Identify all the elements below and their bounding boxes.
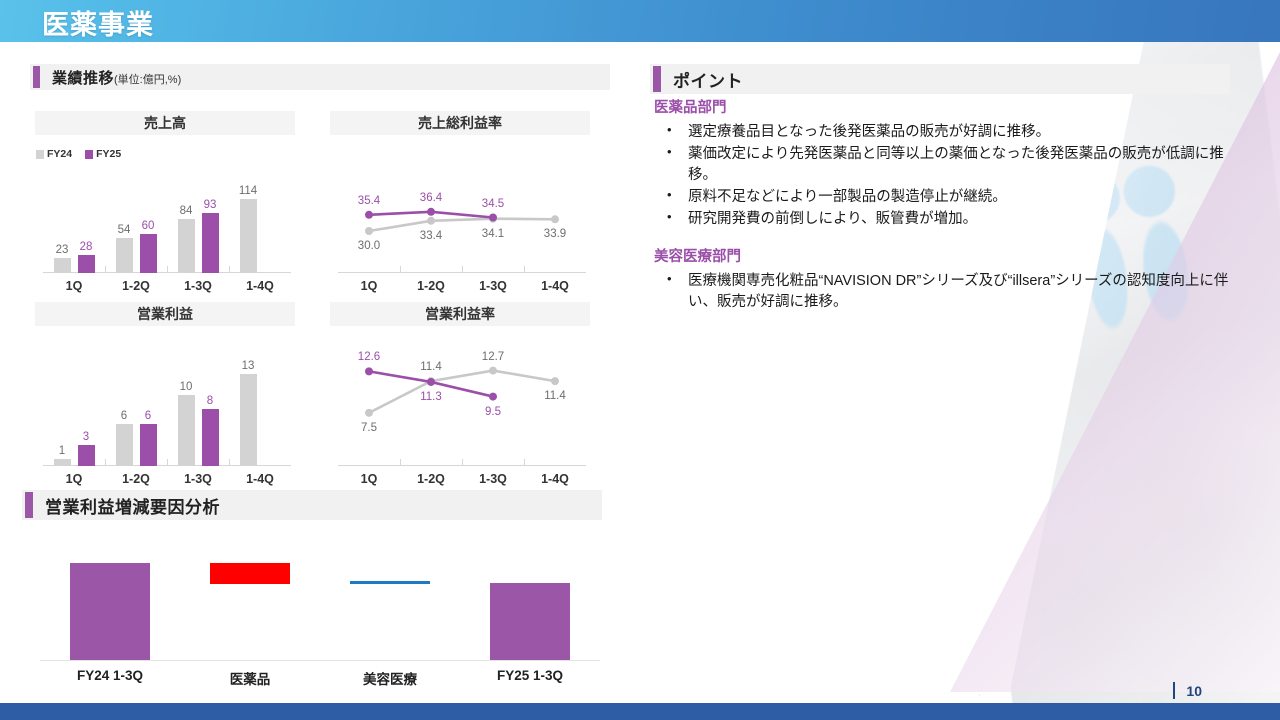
waterfall-category-label: FY25 1-3Q — [460, 668, 600, 683]
legend-swatch-fy25-icon — [85, 150, 93, 159]
legend-swatch-fy24-icon — [36, 150, 44, 159]
waterfall-category-label: FY24 1-3Q — [40, 668, 180, 683]
x-axis-label: 1-4Q — [229, 472, 291, 486]
section-header-performance: 業績推移(単位:億円,%) — [30, 64, 610, 90]
data-point-fy24 — [365, 227, 373, 235]
line-chart-operating-margin: 1Q1-2Q1-3Q1-4Q7.511.412.711.412.611.39.5 — [338, 330, 586, 488]
page-title: 医薬事業 — [42, 3, 154, 42]
data-label: 33.4 — [407, 230, 455, 242]
page-number: 10 — [1186, 683, 1202, 699]
page-separator-icon — [1173, 682, 1175, 699]
bar-value-label: 3 — [69, 431, 104, 443]
line-fy24 — [369, 219, 555, 231]
legend-item-fy24: FY24 — [36, 148, 72, 160]
x-axis-label: 1-3Q — [167, 279, 229, 293]
bar-fy24-1-4Q — [240, 374, 257, 466]
baseline — [40, 660, 600, 661]
axis-tick — [167, 266, 168, 273]
list-item: 医療機関専売化粧品“NAVISION DR”シリーズ及び“illsera”シリー… — [654, 271, 1229, 313]
points-list-2: 医療機関専売化粧品“NAVISION DR”シリーズ及び“illsera”シリー… — [654, 271, 1229, 313]
legend-item-fy25: FY25 — [85, 148, 121, 160]
data-point-fy24 — [551, 215, 559, 223]
bar-fy24-1Q — [54, 459, 71, 466]
axis-tick — [229, 459, 230, 466]
points-group-title-1: 医薬品部門 — [654, 96, 1229, 117]
footer-bar — [0, 703, 1280, 720]
chart-title-operating-margin: 営業利益率 — [330, 302, 590, 326]
chart-panel-operating-margin: 営業利益率 — [330, 302, 590, 326]
x-axis-label: 1-2Q — [105, 472, 167, 486]
section-title-points: ポイント — [673, 67, 743, 92]
bar-value-label: 6 — [131, 410, 166, 422]
data-point-fy24 — [427, 217, 435, 225]
data-point-fy24 — [365, 409, 373, 417]
bar-chart-operating-income: 1Q1-2Q1-3Q1-4Q161013368 — [43, 330, 291, 488]
page-number-block: 10 — [1173, 682, 1202, 699]
data-label: 33.9 — [531, 228, 579, 240]
list-item: 選定療養品目となった後発医薬品の販売が好調に推移。 — [654, 122, 1229, 143]
section-title-waterfall: 営業利益増減要因分析 — [45, 493, 220, 518]
bar-fy25-1Q — [78, 255, 95, 273]
waterfall-category-label: 美容医療 — [320, 668, 460, 688]
list-item: 薬価改定により先発医薬品と同等以上の薬価となった後発医薬品の販売が低調に推移。 — [654, 144, 1229, 186]
bar-fy25-1-3Q — [202, 409, 219, 466]
section-unit-label: (単位:億円,%) — [114, 74, 181, 86]
chart-title-gross-margin: 売上総利益率 — [330, 111, 590, 135]
bar-value-label: 28 — [69, 241, 104, 253]
section-header-waterfall: 営業利益増減要因分析 — [22, 490, 602, 520]
data-point-fy24 — [551, 377, 559, 385]
legend-label-fy25: FY25 — [96, 148, 121, 160]
bar-fy25-1Q — [78, 445, 95, 466]
x-axis-label: 1Q — [43, 279, 105, 293]
bar-fy24-1-2Q — [116, 238, 133, 273]
x-axis-label: 1-3Q — [167, 472, 229, 486]
data-label: 34.1 — [469, 228, 517, 240]
data-label: 30.0 — [345, 240, 393, 252]
data-point-fy25 — [489, 393, 497, 401]
data-point-fy25 — [365, 367, 373, 375]
chart-title-operating-income: 営業利益 — [35, 302, 295, 326]
chart-title-sales: 売上高 — [35, 111, 295, 135]
chart-panel-sales: 売上高 — [35, 111, 295, 135]
section-title-performance: 業績推移 — [52, 70, 114, 87]
data-label: 12.6 — [345, 351, 393, 363]
bar-fy25-1-3Q — [202, 213, 219, 273]
points-group-title-2: 美容医療部門 — [654, 245, 1229, 266]
waterfall-chart-operating-income-bridge: FY24 1-3Q医薬品美容医療FY25 1-3Q — [40, 532, 600, 692]
bar-fy24-1-4Q — [240, 199, 257, 273]
accent-bar-icon — [33, 66, 40, 88]
data-point-fy25 — [427, 378, 435, 386]
waterfall-bar-4 — [490, 583, 570, 660]
x-axis-label: 1Q — [43, 472, 105, 486]
axis-tick — [105, 459, 106, 466]
bar-chart-sales: 1Q1-2Q1-3Q1-4Q235484114286093 — [43, 165, 291, 295]
data-point-fy25 — [427, 208, 435, 216]
axis-tick — [105, 266, 106, 273]
data-point-fy24 — [489, 367, 497, 375]
bar-fy24-1-3Q — [178, 219, 195, 273]
bar-value-label: 93 — [193, 199, 228, 211]
section-header-points: ポイント — [650, 64, 1230, 94]
bar-fy25-1-2Q — [140, 234, 157, 273]
data-label: 35.4 — [345, 195, 393, 207]
waterfall-bar-1 — [70, 563, 150, 660]
data-point-fy25 — [489, 214, 497, 222]
bar-value-label: 8 — [193, 395, 228, 407]
bar-fy24-1-2Q — [116, 424, 133, 466]
bar-fy25-1-2Q — [140, 424, 157, 466]
chart-legend-sales: FY24 FY25 — [36, 148, 121, 160]
legend-label-fy24: FY24 — [47, 148, 72, 160]
bar-value-label: 13 — [231, 360, 266, 372]
chart-panel-gross-margin: 売上総利益率 — [330, 111, 590, 135]
data-label: 11.4 — [407, 361, 455, 373]
data-label: 9.5 — [469, 406, 517, 418]
points-content: 医薬品部門選定療養品目となった後発医薬品の販売が好調に推移。薬価改定により先発医… — [654, 96, 1229, 314]
slide-header: 医薬事業 — [0, 0, 1280, 42]
waterfall-bar-3 — [350, 581, 430, 584]
data-label: 11.3 — [407, 391, 455, 403]
data-label: 36.4 — [407, 192, 455, 204]
bar-value-label: 60 — [131, 220, 166, 232]
bar-value-label: 1 — [45, 445, 80, 457]
accent-bar-icon — [25, 492, 33, 518]
accent-bar-icon — [653, 66, 661, 92]
data-label: 11.4 — [531, 390, 579, 402]
data-point-fy25 — [365, 211, 373, 219]
list-item: 研究開発費の前倒しにより、販管費が増加。 — [654, 209, 1229, 230]
data-label: 12.7 — [469, 351, 517, 363]
axis-tick — [229, 266, 230, 273]
data-label: 7.5 — [345, 422, 393, 434]
axis-tick — [167, 459, 168, 466]
points-list-1: 選定療養品目となった後発医薬品の販売が好調に推移。薬価改定により先発医薬品と同等… — [654, 122, 1229, 229]
waterfall-category-label: 医薬品 — [180, 668, 320, 688]
waterfall-bar-2 — [210, 563, 290, 583]
x-axis-label: 1-4Q — [229, 279, 291, 293]
list-item: 原料不足などにより一部製品の製造停止が継続。 — [654, 187, 1229, 208]
chart-panel-operating-income: 営業利益 — [35, 302, 295, 326]
bar-value-label: 10 — [169, 381, 204, 393]
bar-fy24-1Q — [54, 258, 71, 273]
bar-value-label: 114 — [231, 185, 266, 197]
line-chart-gross-margin: 1Q1-2Q1-3Q1-4Q30.033.434.133.935.436.434… — [338, 165, 586, 295]
x-axis-label: 1-2Q — [105, 279, 167, 293]
data-label: 34.5 — [469, 198, 517, 210]
